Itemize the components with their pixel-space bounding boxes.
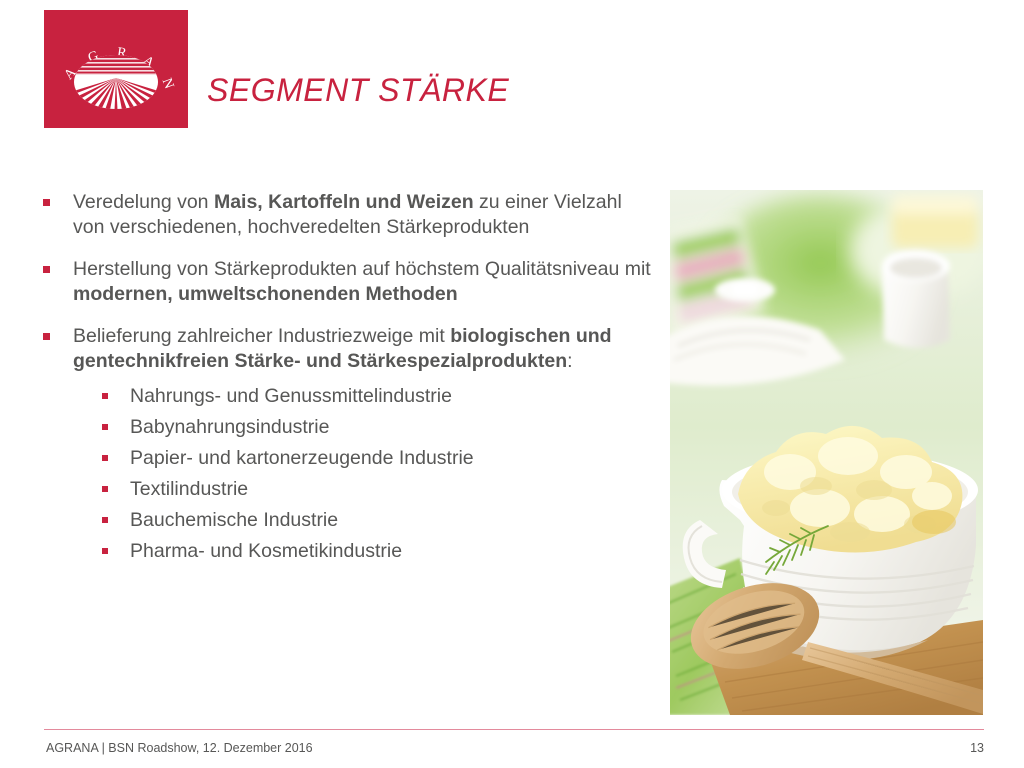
bullet-text-run: Veredelung von <box>73 191 214 213</box>
sub-bullet-item: Textilindustrie <box>97 477 658 501</box>
bullet-square-icon <box>43 199 50 206</box>
sub-bullet-square-icon <box>102 548 108 554</box>
bullet-text-emphasis: Mais, Kartoffeln und Weizen <box>214 191 474 213</box>
bullet-item: Veredelung von Mais, Kartoffeln und Weiz… <box>38 190 658 240</box>
agrana-logo: A G R A N A <box>44 10 188 128</box>
bullet-square-icon <box>43 333 50 340</box>
bullet-text: Belieferung zahlreicher Industriezweige … <box>73 325 612 372</box>
bullet-square-icon <box>43 266 50 273</box>
page-number: 13 <box>944 741 984 755</box>
sub-bullet-item: Bauchemische Industrie <box>97 508 658 532</box>
sub-bullet-item: Nahrungs- und Genussmittelindustrie <box>97 384 658 408</box>
sub-bullet-square-icon <box>102 486 108 492</box>
mashed-potatoes-photo <box>670 190 983 715</box>
footer-text: AGRANA | BSN Roadshow, 12. Dezember 2016 <box>46 741 313 755</box>
sub-bullet-square-icon <box>102 517 108 523</box>
page-title: SEGMENT STÄRKE <box>207 72 509 109</box>
bullet-text-run: Herstellung von Stärkeprodukten auf höch… <box>73 258 651 280</box>
bullet-text: Herstellung von Stärkeprodukten auf höch… <box>73 258 651 305</box>
bullet-text-run: Belieferung zahlreicher Industriezweige … <box>73 325 450 347</box>
bullet-text-run: : <box>567 350 572 372</box>
product-photo <box>670 190 983 715</box>
sub-bullet-text: Papier- und kartonerzeugende Industrie <box>130 447 474 469</box>
content-area: Veredelung von Mais, Kartoffeln und Weiz… <box>38 190 658 580</box>
sub-bullet-square-icon <box>102 393 108 399</box>
bullet-text: Veredelung von Mais, Kartoffeln und Weiz… <box>73 191 622 238</box>
sub-bullet-text: Bauchemische Industrie <box>130 509 338 531</box>
sub-bullet-list: Nahrungs- und GenussmittelindustrieBabyn… <box>97 384 658 563</box>
sub-bullet-item: Babynahrungsindustrie <box>97 415 658 439</box>
sub-bullet-item: Papier- und kartonerzeugende Industrie <box>97 446 658 470</box>
agrana-logo-mark: A G R A N A <box>44 10 188 128</box>
sub-bullet-text: Babynahrungsindustrie <box>130 416 329 438</box>
bullet-item: Belieferung zahlreicher Industriezweige … <box>38 324 658 563</box>
footer-divider <box>44 729 984 730</box>
bullet-text-emphasis: modernen, umweltschonenden Methoden <box>73 283 458 305</box>
sub-bullet-text: Textilindustrie <box>130 478 248 500</box>
sub-bullet-text: Nahrungs- und Genussmittelindustrie <box>130 385 452 407</box>
slide: A G R A N A <box>0 0 1024 768</box>
sub-bullet-square-icon <box>102 455 108 461</box>
bullet-item: Herstellung von Stärkeprodukten auf höch… <box>38 257 658 307</box>
bullet-list: Veredelung von Mais, Kartoffeln und Weiz… <box>38 190 658 563</box>
sub-bullet-square-icon <box>102 424 108 430</box>
sub-bullet-item: Pharma- und Kosmetikindustrie <box>97 539 658 563</box>
sub-bullet-text: Pharma- und Kosmetikindustrie <box>130 540 402 562</box>
